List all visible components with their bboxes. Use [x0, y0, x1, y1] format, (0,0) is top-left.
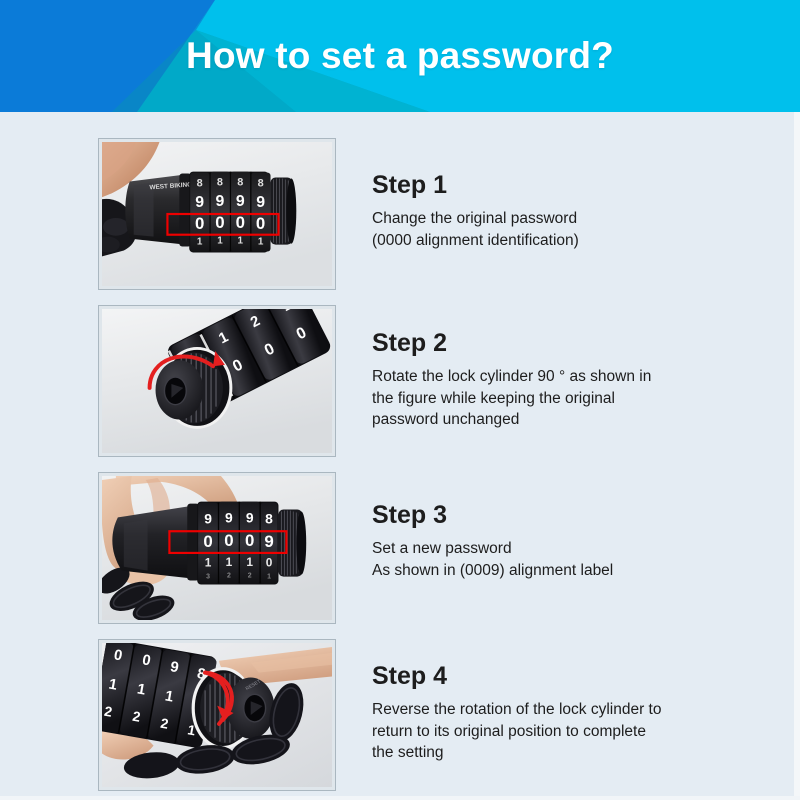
svg-text:9: 9: [246, 509, 254, 525]
step-row: WEST BIKING 88: [0, 138, 800, 303]
step-title: Step 1: [372, 170, 772, 200]
step-1-photo-frame: WEST BIKING 88: [98, 138, 336, 290]
svg-text:1: 1: [267, 574, 271, 581]
svg-text:8: 8: [217, 176, 223, 188]
svg-text:0: 0: [236, 213, 245, 232]
step-title: Step 2: [372, 328, 772, 358]
step-3-copy: Step 3 Set a new password As shown in (0…: [372, 500, 772, 581]
svg-text:9: 9: [236, 193, 245, 210]
svg-text:8: 8: [258, 177, 264, 189]
step-4-photo-frame: 0 1 2 0 1 2 9 1 2 8: [98, 639, 336, 791]
svg-text:2: 2: [227, 573, 231, 580]
step-2-copy: Step 2 Rotate the lock cylinder 90 ° as …: [372, 328, 772, 431]
header-banner: How to set a password?: [0, 0, 800, 112]
step-body: Change the original password (0000 align…: [372, 208, 772, 251]
svg-text:8: 8: [197, 177, 203, 189]
svg-text:0: 0: [195, 214, 204, 233]
step-title: Step 3: [372, 500, 772, 530]
step-4-copy: Step 4 Reverse the rotation of the lock …: [372, 661, 772, 764]
svg-text:1: 1: [205, 556, 212, 570]
step-row: 99 98 00 09 11 10: [0, 472, 800, 637]
step-body: Rotate the lock cylinder 90 ° as shown i…: [372, 366, 772, 431]
step-2-photo-frame: 2 0 1 0 2 0 1 0: [98, 305, 336, 457]
svg-text:1: 1: [246, 555, 253, 569]
step-3-photo-frame: 99 98 00 09 11 10: [98, 472, 336, 624]
svg-text:0: 0: [224, 531, 233, 550]
svg-text:0: 0: [256, 214, 265, 233]
svg-text:9: 9: [204, 510, 212, 526]
step-title: Step 4: [372, 661, 772, 691]
svg-text:3: 3: [206, 574, 210, 581]
svg-text:1: 1: [217, 236, 223, 247]
lock-cylinder-rotate-cw-photo: 2 0 1 0 2 0 1 0: [102, 309, 332, 453]
step-body: Reverse the rotation of the lock cylinde…: [372, 699, 772, 764]
svg-text:9: 9: [225, 509, 233, 525]
step-row: 0 1 2 0 1 2 9 1 2 8: [0, 639, 800, 800]
svg-text:1: 1: [226, 555, 233, 569]
svg-text:8: 8: [237, 176, 243, 188]
svg-text:8: 8: [265, 510, 273, 526]
svg-text:0: 0: [215, 213, 224, 232]
lock-dials-0009-photo: 99 98 00 09 11 10: [102, 476, 332, 620]
svg-text:1: 1: [197, 237, 203, 248]
svg-text:9: 9: [256, 194, 265, 211]
svg-text:0: 0: [266, 556, 273, 570]
svg-text:9: 9: [195, 194, 204, 211]
lock-dials-0000-photo: WEST BIKING 88: [102, 142, 332, 286]
lock-cylinder-rotate-ccw-photo: 0 1 2 0 1 2 9 1 2 8: [102, 643, 332, 787]
svg-text:1: 1: [258, 237, 264, 248]
svg-text:0: 0: [245, 531, 254, 550]
step-1-copy: Step 1 Change the original password (000…: [372, 170, 772, 251]
svg-text:0: 0: [203, 532, 212, 551]
svg-text:2: 2: [248, 573, 252, 580]
svg-text:9: 9: [216, 193, 225, 210]
infographic-page: How to set a password?: [0, 0, 800, 800]
steps-list: WEST BIKING 88: [0, 112, 800, 800]
svg-text:9: 9: [264, 532, 273, 551]
step-body: Set a new password As shown in (0009) al…: [372, 538, 772, 581]
step-row: 2 0 1 0 2 0 1 0: [0, 305, 800, 470]
svg-text:1: 1: [238, 236, 244, 247]
page-title: How to set a password?: [0, 0, 800, 112]
